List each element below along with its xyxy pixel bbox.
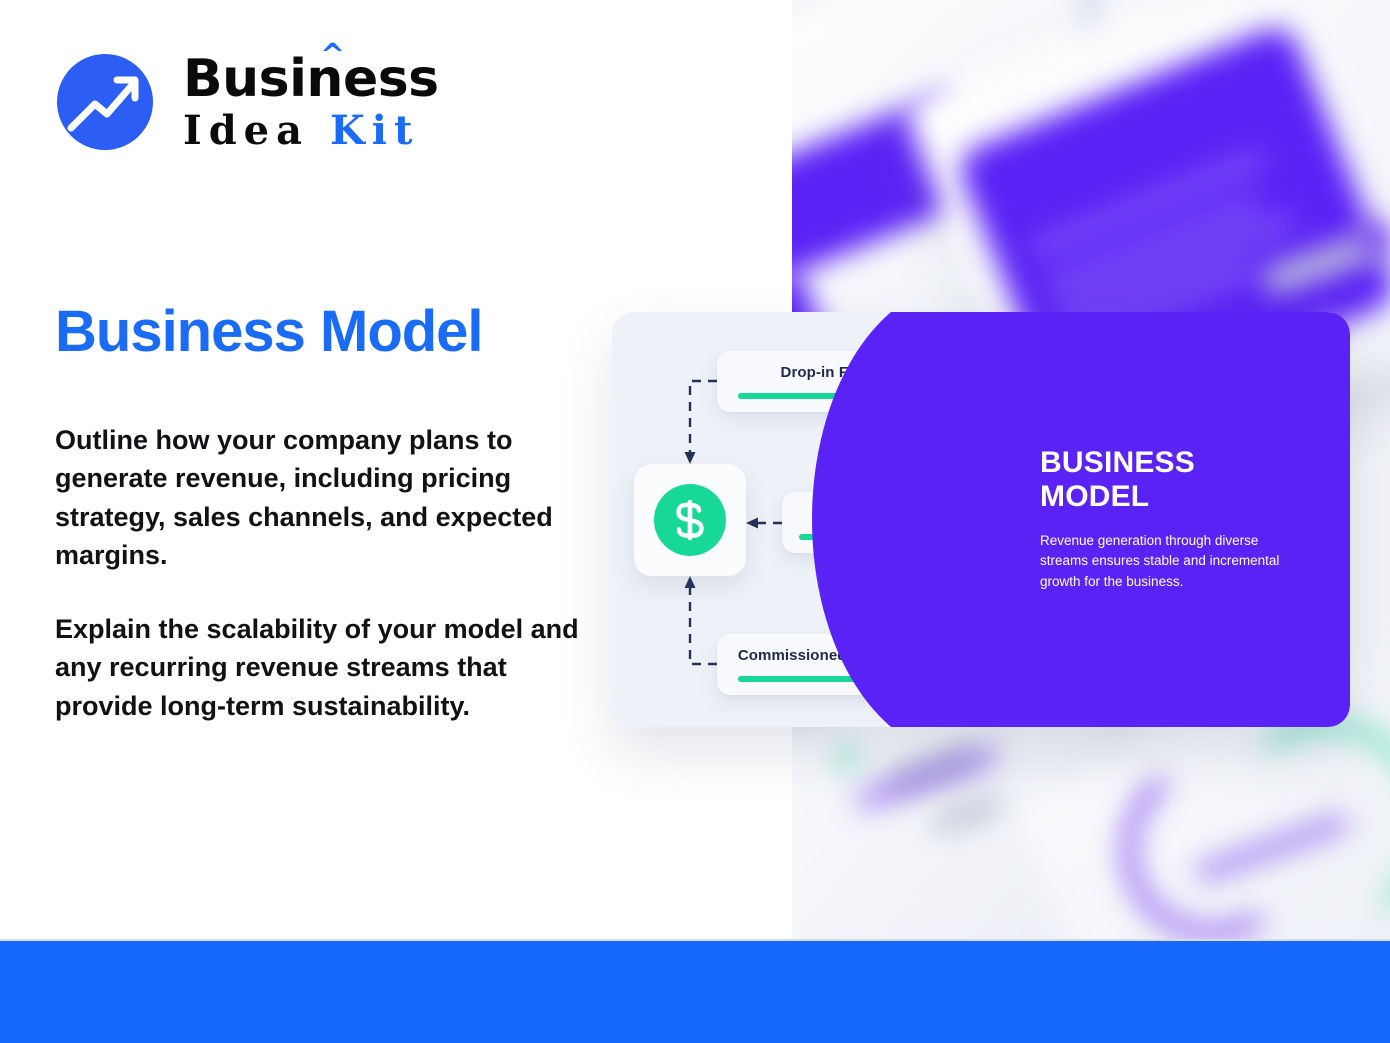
business-model-panel: BUSINESS MODEL Revenue generation throug… — [962, 312, 1350, 727]
slide-root: Business ^ Idea Kit Business Model Outli… — [0, 0, 1390, 1043]
business-model-card: Drop-in Fees Session Workshops Commissio… — [612, 312, 1350, 727]
panel-description: Revenue generation through diverse strea… — [1040, 531, 1298, 592]
brand-logo: Business ^ Idea Kit — [55, 52, 439, 152]
trend-arrow-circle-icon — [55, 52, 155, 152]
dollar-sign-icon — [654, 484, 726, 556]
logo-circumflex-accent: ^ — [320, 41, 345, 71]
bg-dot — [837, 748, 857, 768]
description-paragraph-1: Outline how your company plans to genera… — [55, 421, 595, 574]
logo-text-business: Business — [183, 49, 439, 109]
logo-text-idea: Idea — [183, 107, 309, 154]
logo-wordmark-line2: Idea Kit — [183, 111, 439, 151]
page-title: Business Model — [55, 298, 483, 365]
panel-title: BUSINESS MODEL — [1040, 446, 1298, 513]
revenue-hub[interactable] — [634, 464, 746, 576]
logo-wordmark-line1: Business ^ — [183, 53, 439, 105]
description-paragraph-2: Explain the scalability of your model an… — [55, 610, 595, 725]
bg-dot — [1357, 222, 1390, 256]
footer-bar — [0, 941, 1390, 1043]
logo-text-kit: Kit — [330, 107, 419, 154]
